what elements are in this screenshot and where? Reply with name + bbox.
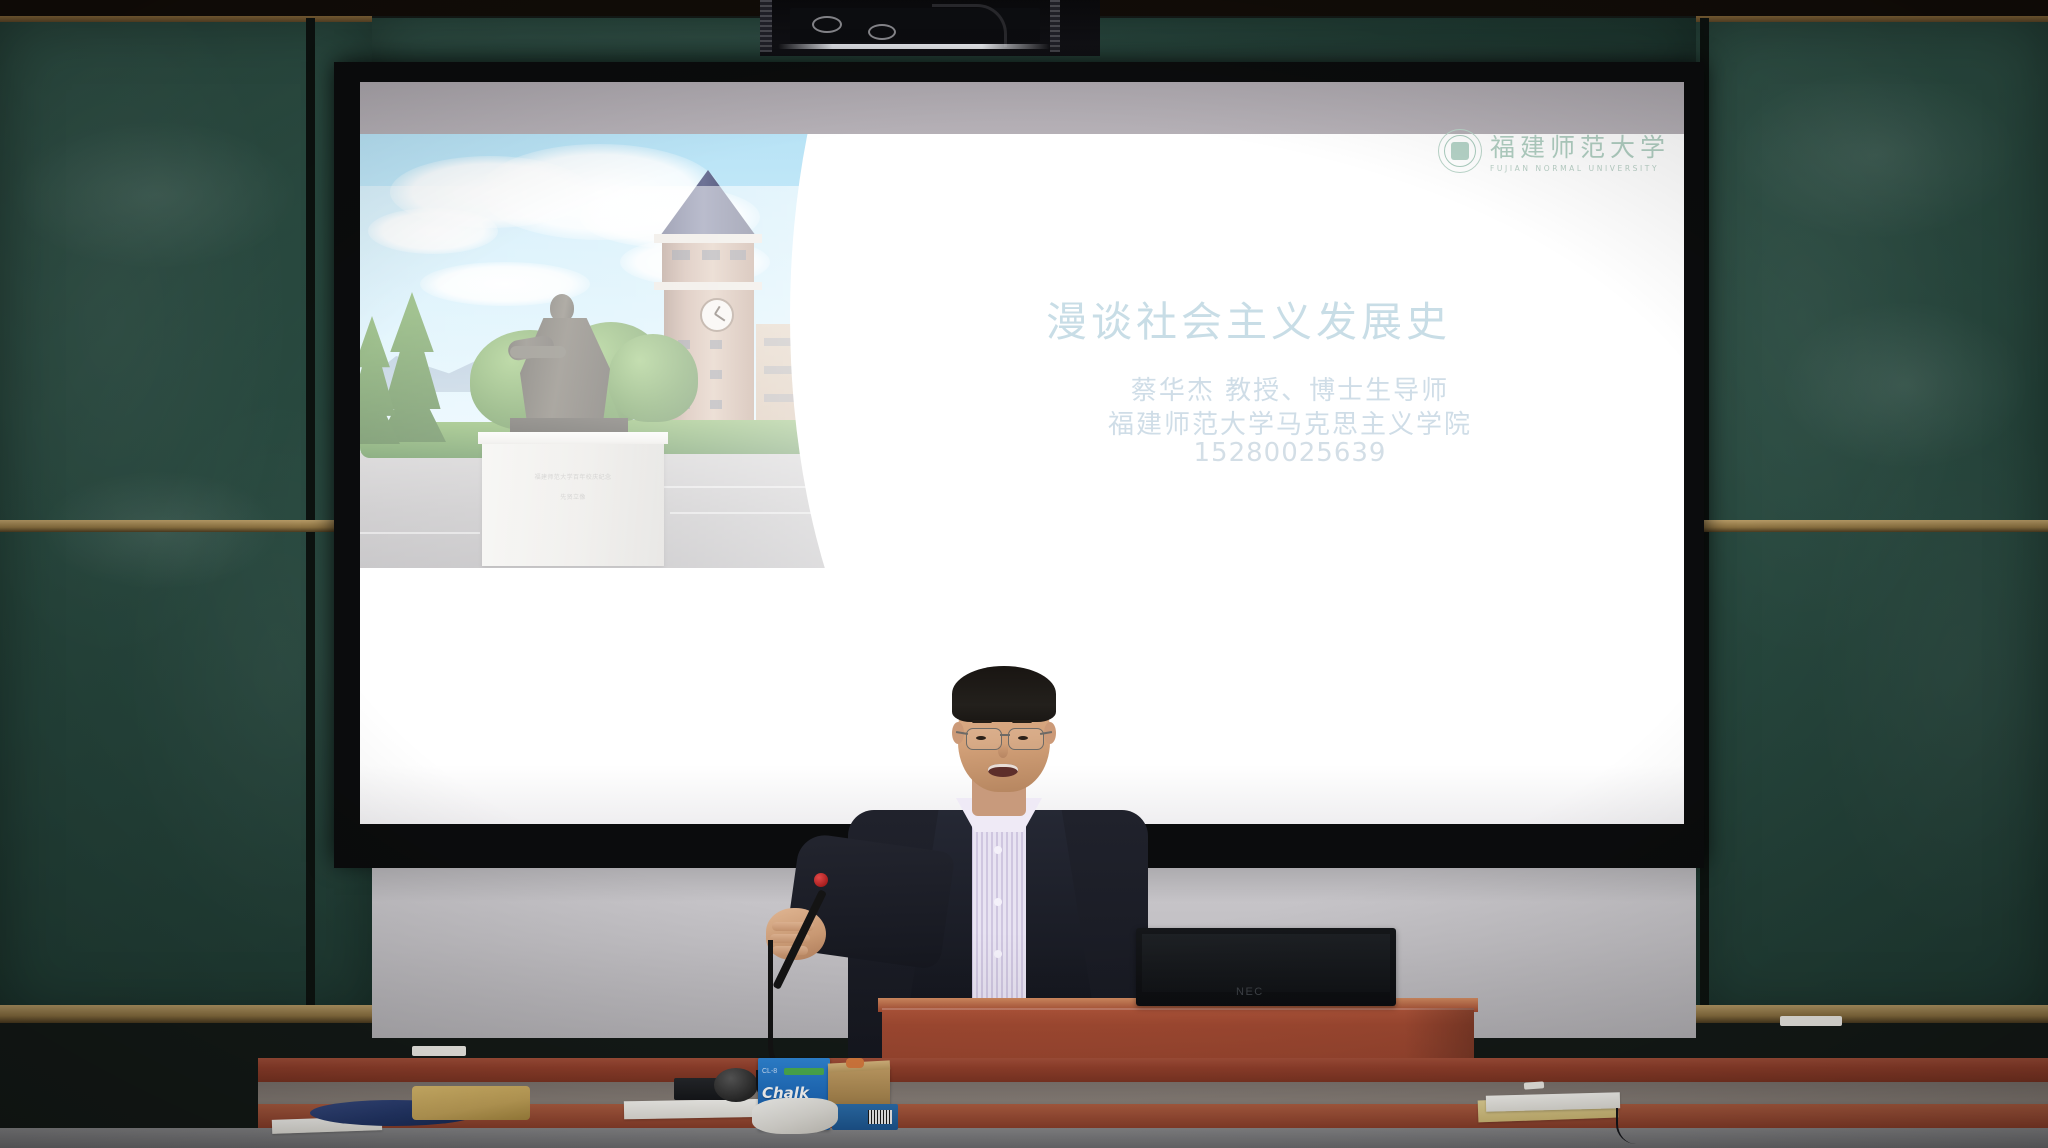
nose — [998, 744, 1008, 758]
screen-top-shadow-band — [360, 82, 1684, 134]
desk-body — [258, 1058, 2048, 1082]
microphone-head-icon — [814, 873, 828, 887]
hair — [952, 666, 1056, 722]
university-name-english: FUJIAN NORMAL UNIVERSITY — [1490, 164, 1670, 173]
blackboard-chalk-tray-right — [1660, 1005, 2048, 1023]
shirt-buttons — [994, 950, 1002, 958]
monitor-brand-label: NEC — [1236, 986, 1264, 998]
clock-tower-belfry — [662, 243, 754, 283]
clock-tower-cornice — [654, 234, 762, 243]
chalk-box-green-tag — [784, 1068, 824, 1075]
statue-scroll — [510, 346, 566, 358]
projector-highlight — [778, 44, 1050, 49]
plaza-paving-line — [670, 512, 830, 514]
plaza-paving-line — [360, 532, 480, 534]
eyeglass-bridge — [1000, 734, 1010, 736]
eyebrow-left — [972, 720, 992, 723]
chalk-stick[interactable] — [1524, 1081, 1544, 1089]
blackboard-panel-gap-left — [306, 18, 315, 1018]
slide-affiliation-line: 福建师范大学马克思主义学院 — [980, 404, 1600, 441]
pedestal-inscription: 福建师范大学百年校庆纪念 — [482, 472, 664, 481]
computer-monitor: NEC — [1136, 928, 1396, 1006]
blackboard-chalk-tray-left — [0, 1005, 372, 1023]
tower-window — [710, 340, 722, 349]
shirt-buttons — [994, 898, 1002, 906]
statue-pedestal: 福建师范大学百年校庆纪念 先贤立像 — [482, 444, 664, 566]
chalk-box-sku: CL-8 — [762, 1068, 777, 1075]
university-seal-icon — [1438, 129, 1482, 173]
tree — [608, 334, 698, 422]
clock-tower-band — [654, 282, 762, 290]
slide-presenter-line: 蔡华杰 教授、博士生导师 — [980, 370, 1600, 407]
university-name-chinese: 福建师范大学 — [1490, 128, 1670, 164]
clock-tower-louvre — [702, 250, 720, 260]
tower-window — [710, 370, 722, 379]
mount-bracket-left — [760, 0, 772, 52]
statue-head — [550, 294, 574, 322]
slide-photo-campus: 福建师范大学百年校庆纪念 先贤立像 — [360, 134, 830, 568]
pedestal-cap — [478, 432, 668, 444]
tower-window — [710, 400, 722, 409]
university-logo: 福建师范大学 FUJIAN NORMAL UNIVERSITY — [1438, 128, 1670, 173]
cloud — [368, 208, 498, 254]
blackboard-left — [0, 18, 372, 1018]
projector-lens-secondary — [868, 24, 896, 40]
blackboard-rail-left — [0, 520, 372, 532]
mouth — [988, 764, 1018, 777]
clock-face — [700, 298, 734, 332]
chalk-stick-right-tray[interactable] — [1780, 1016, 1842, 1026]
slide-phone-number: 15280025639 — [980, 438, 1600, 468]
lecture-hall-scene: 福建师范大学百年校庆纪念 先贤立像 漫谈社会主义发展史 蔡华杰 教授、博士生导师… — [0, 0, 2048, 1148]
plaza-paving-line — [660, 486, 830, 488]
projector-cable — [932, 4, 1007, 47]
eye-right — [1018, 736, 1028, 740]
clock-hand-minute — [715, 313, 726, 321]
blackboard-rail-right — [1696, 520, 2048, 532]
seal-core — [1451, 142, 1469, 160]
mount-bracket-right — [1050, 0, 1060, 52]
pedestal-inscription-second: 先贤立像 — [482, 492, 664, 501]
chalk-stick-left-tray[interactable] — [412, 1046, 466, 1056]
slide-title: 漫谈社会主义发展史 — [1046, 288, 1451, 348]
shirt-buttons — [994, 846, 1002, 854]
projector-lens — [812, 16, 842, 33]
clock-tower-louvre — [672, 250, 690, 260]
box-contents — [846, 1058, 864, 1068]
rolled-tan-paper — [412, 1086, 530, 1120]
monitor-screen — [1142, 934, 1390, 992]
white-cloth-rag[interactable] — [752, 1098, 838, 1134]
eye-left — [976, 736, 986, 740]
clock-tower-louvre — [730, 250, 746, 260]
barcode-label — [868, 1110, 892, 1124]
blackboard-right — [1696, 18, 2048, 1018]
microphone-base — [714, 1068, 758, 1102]
eyebrow-right — [1012, 720, 1032, 723]
